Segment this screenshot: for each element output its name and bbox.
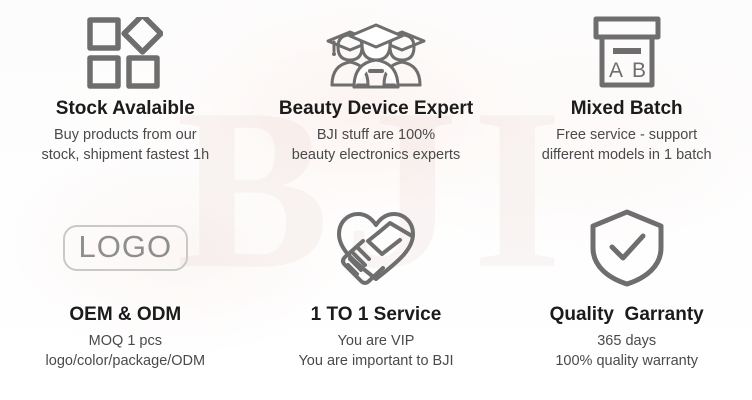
feature-title: Mixed Batch <box>571 98 683 120</box>
feature-card-beauty-device-expert: Beauty Device Expert BJI stuff are 100% … <box>251 10 502 202</box>
feature-card-oem-odm: LOGO OEM & ODM MOQ 1 pcs logo/color/pack… <box>0 202 251 394</box>
feature-description-line: beauty electronics experts <box>292 145 460 166</box>
graduates-group-icon <box>324 10 428 96</box>
svg-text:A: A <box>609 59 623 82</box>
feature-title: 1 TO 1 Service <box>311 304 442 326</box>
feature-description-line: You are VIP <box>298 331 453 352</box>
logo-pill-text: LOGO <box>63 225 189 271</box>
feature-description-line: 365 days <box>555 331 698 352</box>
feature-description-line: logo/color/package/ODM <box>46 351 206 372</box>
feature-description-line: stock, shipment fastest 1h <box>42 145 210 166</box>
feature-description: You are VIP You are important to BJI <box>298 331 453 372</box>
feature-description: BJI stuff are 100% beauty electronics ex… <box>292 125 460 166</box>
feature-card-mixed-batch: A B Mixed Batch Free service - support d… <box>501 10 752 202</box>
feature-description-line: BJI stuff are 100% <box>292 125 460 146</box>
feature-banner: BJI Stock Avalaible Buy products from ou… <box>0 0 752 400</box>
feature-title: Beauty Device Expert <box>279 98 473 120</box>
four-squares-diamond-icon <box>87 10 163 96</box>
box-ab-icon: A B <box>588 10 666 96</box>
feature-title: Quality Garranty <box>550 304 704 326</box>
feature-card-stock-available: Stock Avalaible Buy products from our st… <box>0 10 251 202</box>
heart-handshake-icon <box>333 202 419 294</box>
feature-title: Stock Avalaible <box>56 98 195 120</box>
feature-title: OEM & ODM <box>69 304 181 326</box>
feature-description-line: You are important to BJI <box>298 351 453 372</box>
feature-description: MOQ 1 pcs logo/color/package/ODM <box>46 331 206 372</box>
logo-pill-icon: LOGO <box>63 202 189 294</box>
feature-description-line: MOQ 1 pcs <box>46 331 206 352</box>
shield-check-icon <box>589 202 665 294</box>
feature-description-line: Buy products from our <box>42 125 210 146</box>
feature-description: Free service - support different models … <box>542 125 712 166</box>
feature-description: 365 days 100% quality warranty <box>555 331 698 372</box>
feature-card-quality-guaranty: Quality Garranty 365 days 100% quality w… <box>501 202 752 394</box>
feature-description-line: different models in 1 batch <box>542 145 712 166</box>
feature-description-line: Free service - support <box>542 125 712 146</box>
feature-grid: Stock Avalaible Buy products from our st… <box>0 0 752 400</box>
svg-text:B: B <box>632 59 646 82</box>
feature-description: Buy products from our stock, shipment fa… <box>42 125 210 166</box>
feature-description-line: 100% quality warranty <box>555 351 698 372</box>
feature-card-one-to-one-service: 1 TO 1 Service You are VIP You are impor… <box>251 202 502 394</box>
